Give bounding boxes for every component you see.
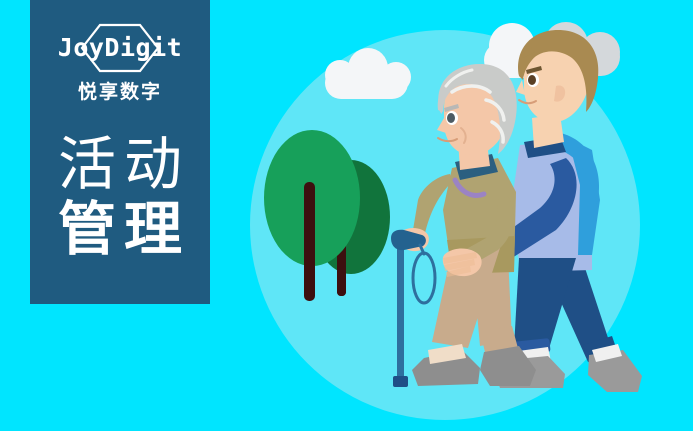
cane-shaft xyxy=(397,248,404,383)
logo-block: JoyDigit 悦享数字 xyxy=(30,22,210,104)
brand-panel: JoyDigit 悦享数字 活动 管理 xyxy=(30,0,210,304)
page-title-line-1: 活动 xyxy=(30,132,210,197)
logo-subtitle: 悦享数字 xyxy=(30,80,210,104)
logo-wordmark: JoyDigit xyxy=(44,31,196,65)
logo-hexagon-icon: JoyDigit xyxy=(44,22,196,74)
page-title: 活动 管理 xyxy=(30,132,210,262)
cane-tip xyxy=(393,376,408,387)
poster-canvas: JoyDigit 悦享数字 活动 管理 xyxy=(0,0,693,431)
page-title-line-2: 管理 xyxy=(30,197,210,262)
